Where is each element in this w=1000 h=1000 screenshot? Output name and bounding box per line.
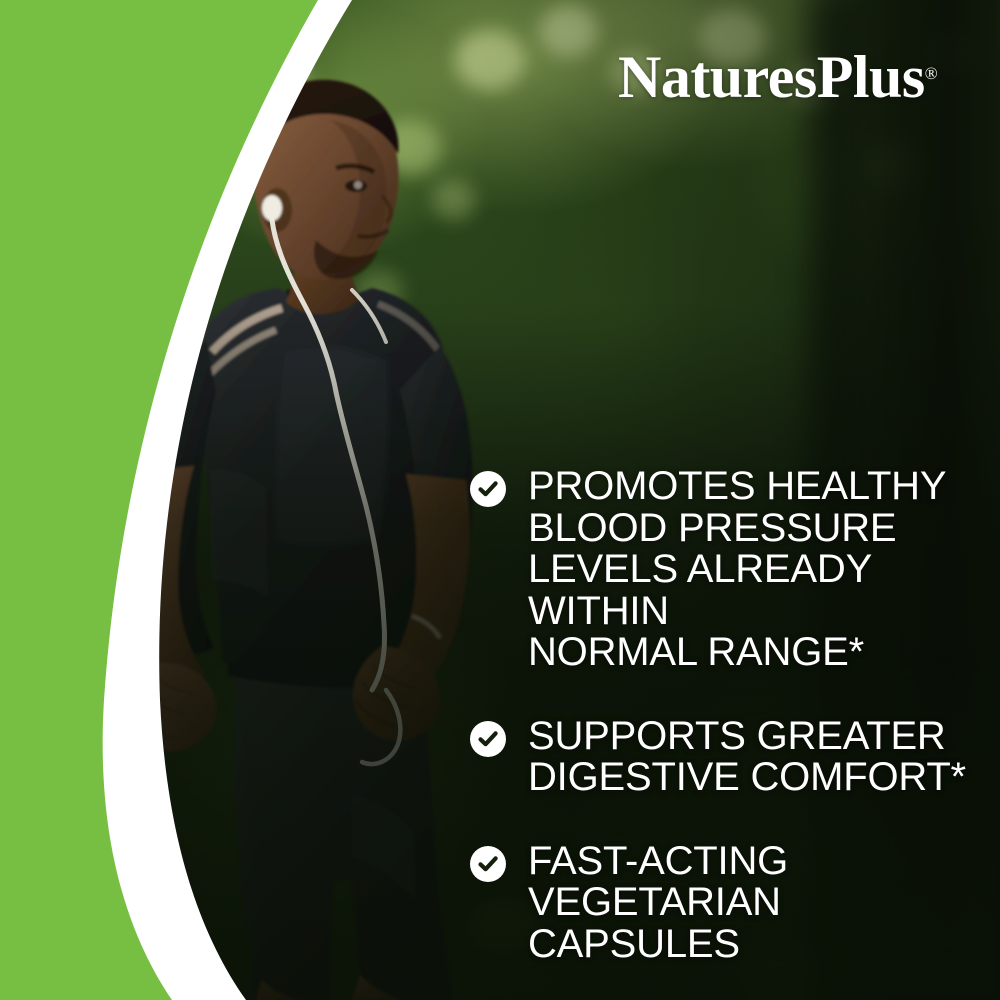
benefit-item: SUPPORTS GREATER DIGESTIVE COMFORT*	[470, 716, 980, 799]
brand-logo-text: NaturesPlus	[618, 44, 925, 110]
brand-logo: NaturesPlus®	[618, 47, 938, 107]
benefit-item: PROMOTES HEALTHY BLOOD PRESSURE LEVELS A…	[470, 466, 980, 674]
benefit-text: FAST-ACTING VEGETARIAN CAPSULES	[528, 841, 980, 966]
benefit-text: SUPPORTS GREATER DIGESTIVE COMFORT*	[528, 716, 966, 799]
check-circle-icon	[470, 471, 506, 507]
benefit-text: PROMOTES HEALTHY BLOOD PRESSURE LEVELS A…	[528, 466, 980, 674]
registered-trademark-icon: ®	[925, 64, 938, 83]
benefit-item: FAST-ACTING VEGETARIAN CAPSULES	[470, 841, 980, 966]
check-circle-icon	[470, 721, 506, 757]
product-benefits-banner: NaturesPlus® PROMOTES HEALTHY BLOOD PRES…	[0, 0, 1000, 1000]
check-circle-icon	[470, 846, 506, 882]
benefits-list: PROMOTES HEALTHY BLOOD PRESSURE LEVELS A…	[470, 466, 980, 965]
